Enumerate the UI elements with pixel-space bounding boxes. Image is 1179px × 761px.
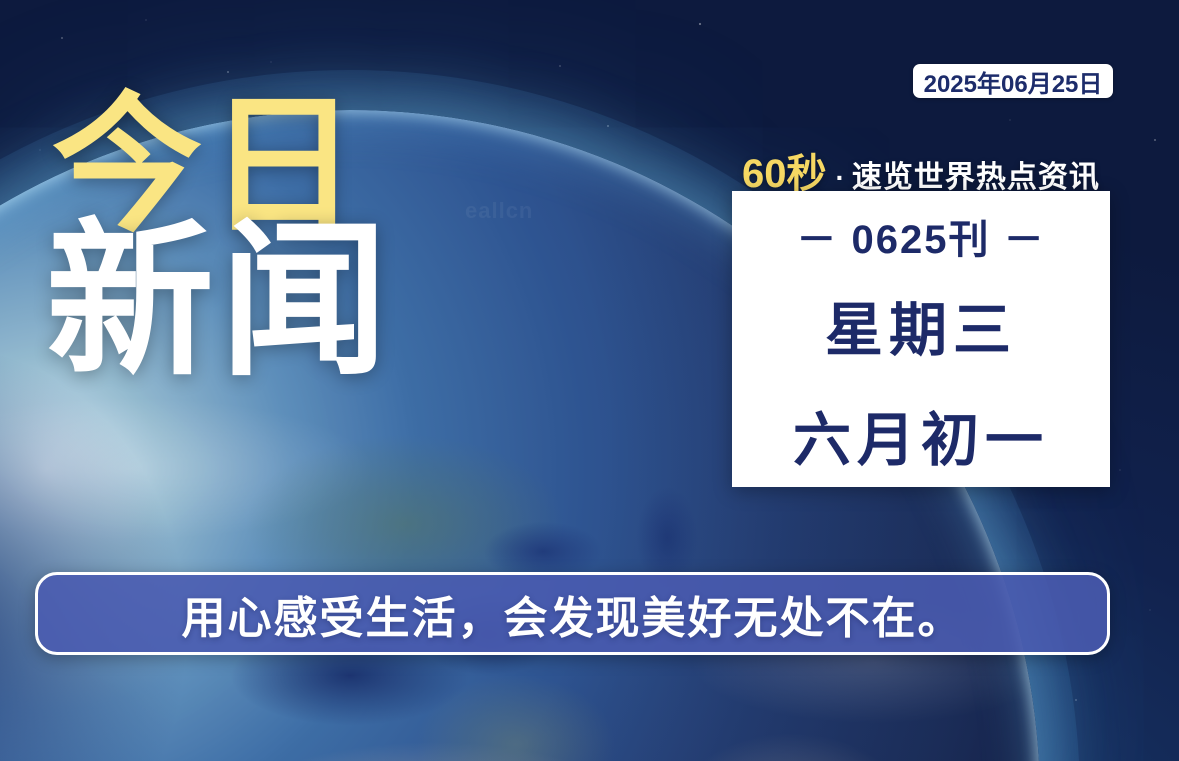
weekday-label: 星期三 xyxy=(825,283,1017,367)
info-card: － 0625刊 － 星期三 六月初一 xyxy=(732,191,1110,487)
tagline-description: 速览世界热点资讯 xyxy=(852,152,1100,196)
quote-banner: 用心感受生活，会发现美好无处不在。 xyxy=(35,572,1110,655)
news-poster: eallcn 今日 新闻 2025年06月25日 60秒 · 速览世界热点资讯 … xyxy=(0,0,1179,761)
headline: 今日 新闻 xyxy=(52,96,394,379)
lunar-date-label: 六月初一 xyxy=(793,393,1049,477)
date-badge-label: 2025年06月25日 xyxy=(924,64,1103,99)
tagline-separator-dot: · xyxy=(836,162,845,194)
watermark: eallcn xyxy=(465,198,533,224)
date-badge: 2025年06月25日 xyxy=(913,64,1113,98)
quote-text: 用心感受生活，会发现美好无处不在。 xyxy=(182,582,964,646)
issue-number: － 0625刊 － xyxy=(796,207,1045,265)
headline-line-news: 新闻 xyxy=(46,224,394,379)
